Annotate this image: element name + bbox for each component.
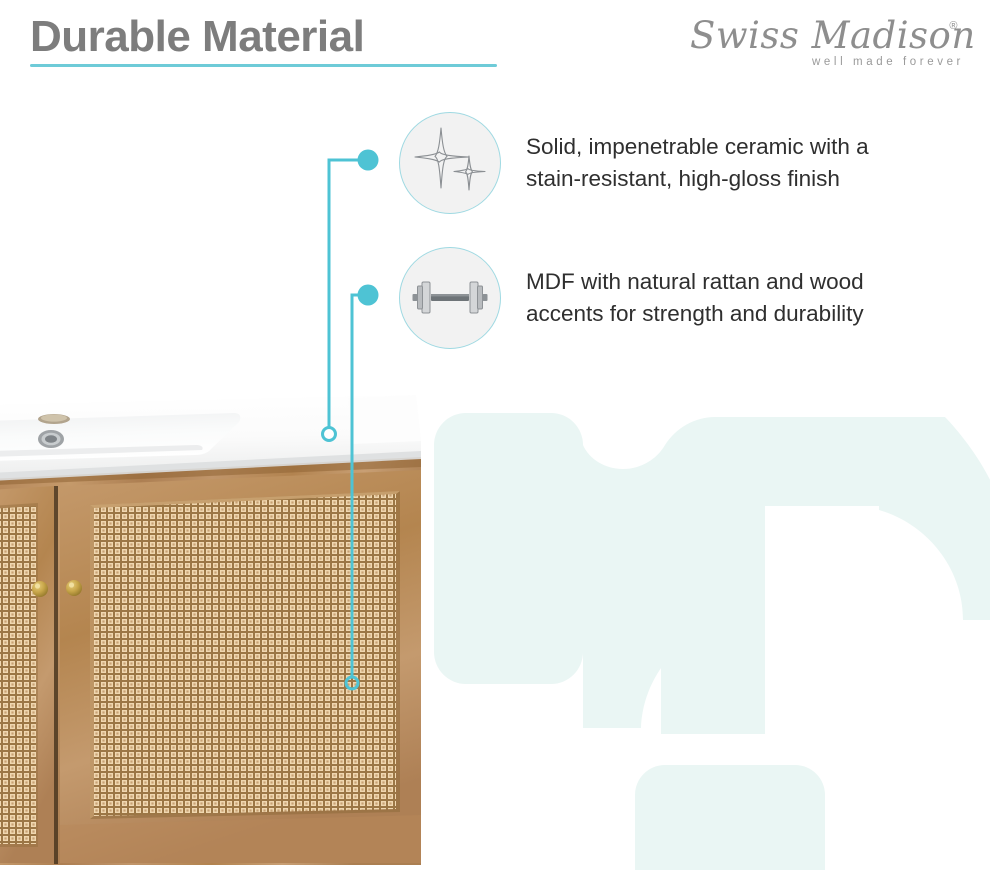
infographic-canvas: Durable Material Swiss Madison ® well ma… (0, 0, 990, 886)
leader-endpoint-2 (346, 677, 358, 689)
leader-dot-2 (358, 285, 379, 306)
leader-line-2 (352, 295, 368, 676)
callout-leader-lines (0, 0, 990, 886)
leader-dot-1 (358, 150, 379, 171)
rattan-door-callout (346, 285, 379, 690)
leader-endpoint-1 (323, 428, 336, 441)
